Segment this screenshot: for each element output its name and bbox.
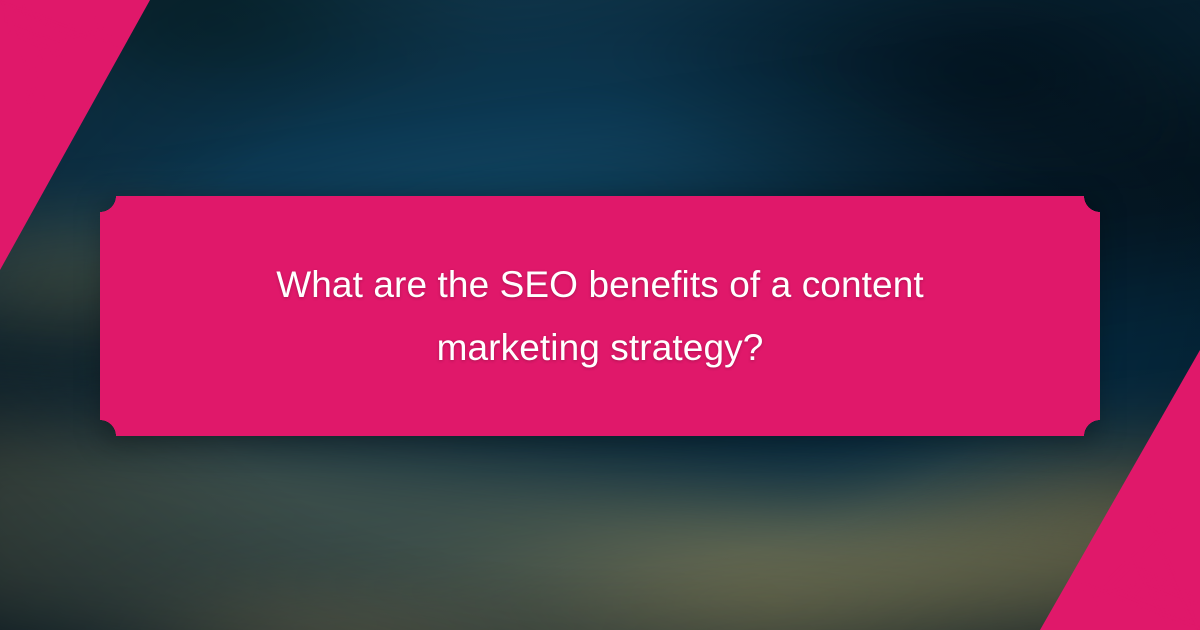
social-card-canvas: What are the SEO benefits of a content m… [0,0,1200,630]
page-title: What are the SEO benefits of a content m… [250,253,950,379]
question-card: What are the SEO benefits of a content m… [100,196,1100,436]
card-surface: What are the SEO benefits of a content m… [100,196,1100,436]
